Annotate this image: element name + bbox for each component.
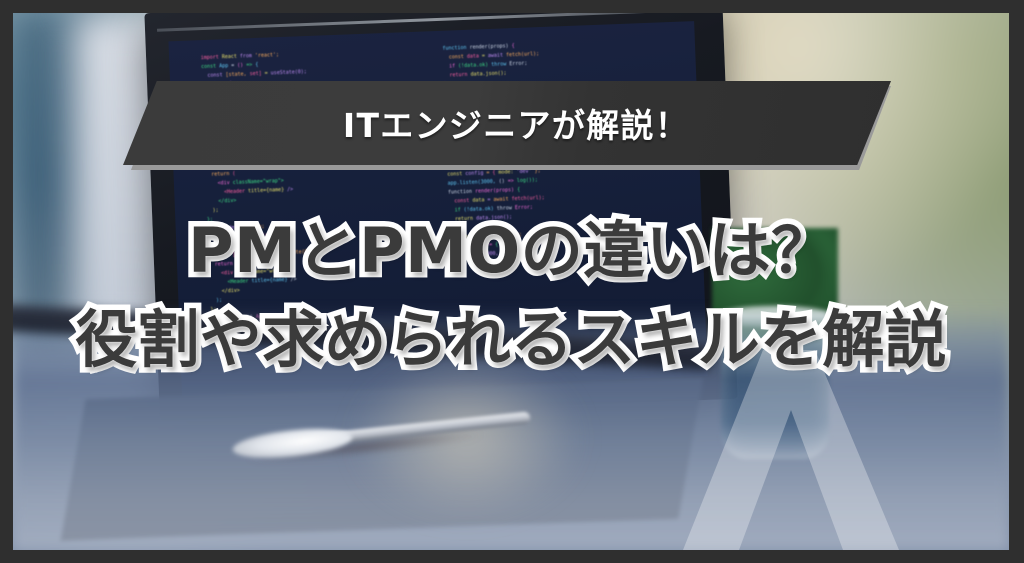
- banner: ITエンジニアが解説！: [123, 70, 913, 178]
- plant-jar-rim: [715, 306, 835, 327]
- banner-label: ITエンジニアが解説！: [325, 99, 689, 147]
- photo-canvas: import React from 'react';const App = ()…: [13, 13, 1009, 550]
- banner-plate: ITエンジニアが解説！: [123, 81, 891, 165]
- plant-jar: [721, 313, 829, 459]
- plant-in-jar: [700, 228, 850, 464]
- outer-frame: import React from 'react';const App = ()…: [0, 0, 1024, 563]
